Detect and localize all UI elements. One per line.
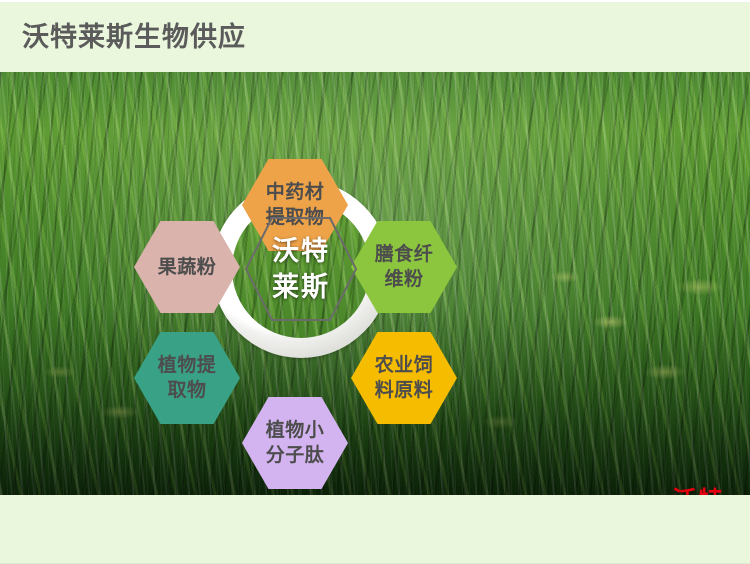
brand-watermark-logo: 沃特 莱斯	[672, 486, 724, 495]
hero-image: 中药材 提取物 膳食纤 维粉 农业饲 料原料 植物小 分子肽	[0, 72, 750, 495]
hexagon-plant-extract[interactable]: 植物提 取物	[134, 331, 240, 425]
hexagon-cluster-diagram: 中药材 提取物 膳食纤 维粉 农业饲 料原料 植物小 分子肽	[0, 72, 750, 495]
brand-watermark-line1: 沃特	[672, 486, 724, 495]
hexagon-plant-extract-label: 植物提 取物	[154, 353, 221, 403]
hexagon-plant-small-molecule-peptide[interactable]: 植物小 分子肽	[242, 396, 348, 490]
footer-band	[0, 495, 750, 564]
hexagon-dietary-fiber-powder-label: 膳食纤 维粉	[371, 242, 438, 292]
center-brand-label: 沃特 莱斯	[272, 233, 330, 305]
hexagon-agricultural-feed-raw-material-label: 农业饲 料原料	[371, 353, 438, 403]
hexagon-fruit-vegetable-powder-label: 果蔬粉	[154, 255, 221, 280]
hexagon-agricultural-feed-raw-material[interactable]: 农业饲 料原料	[351, 331, 457, 425]
page-title: 沃特莱斯生物供应	[22, 20, 246, 54]
center-brand-hexagon[interactable]: 沃特 莱斯	[243, 215, 359, 323]
slide-canvas: 沃特莱斯生物供应 中药材 提取物	[0, 0, 750, 564]
hexagon-plant-small-molecule-peptide-label: 植物小 分子肽	[262, 418, 329, 468]
